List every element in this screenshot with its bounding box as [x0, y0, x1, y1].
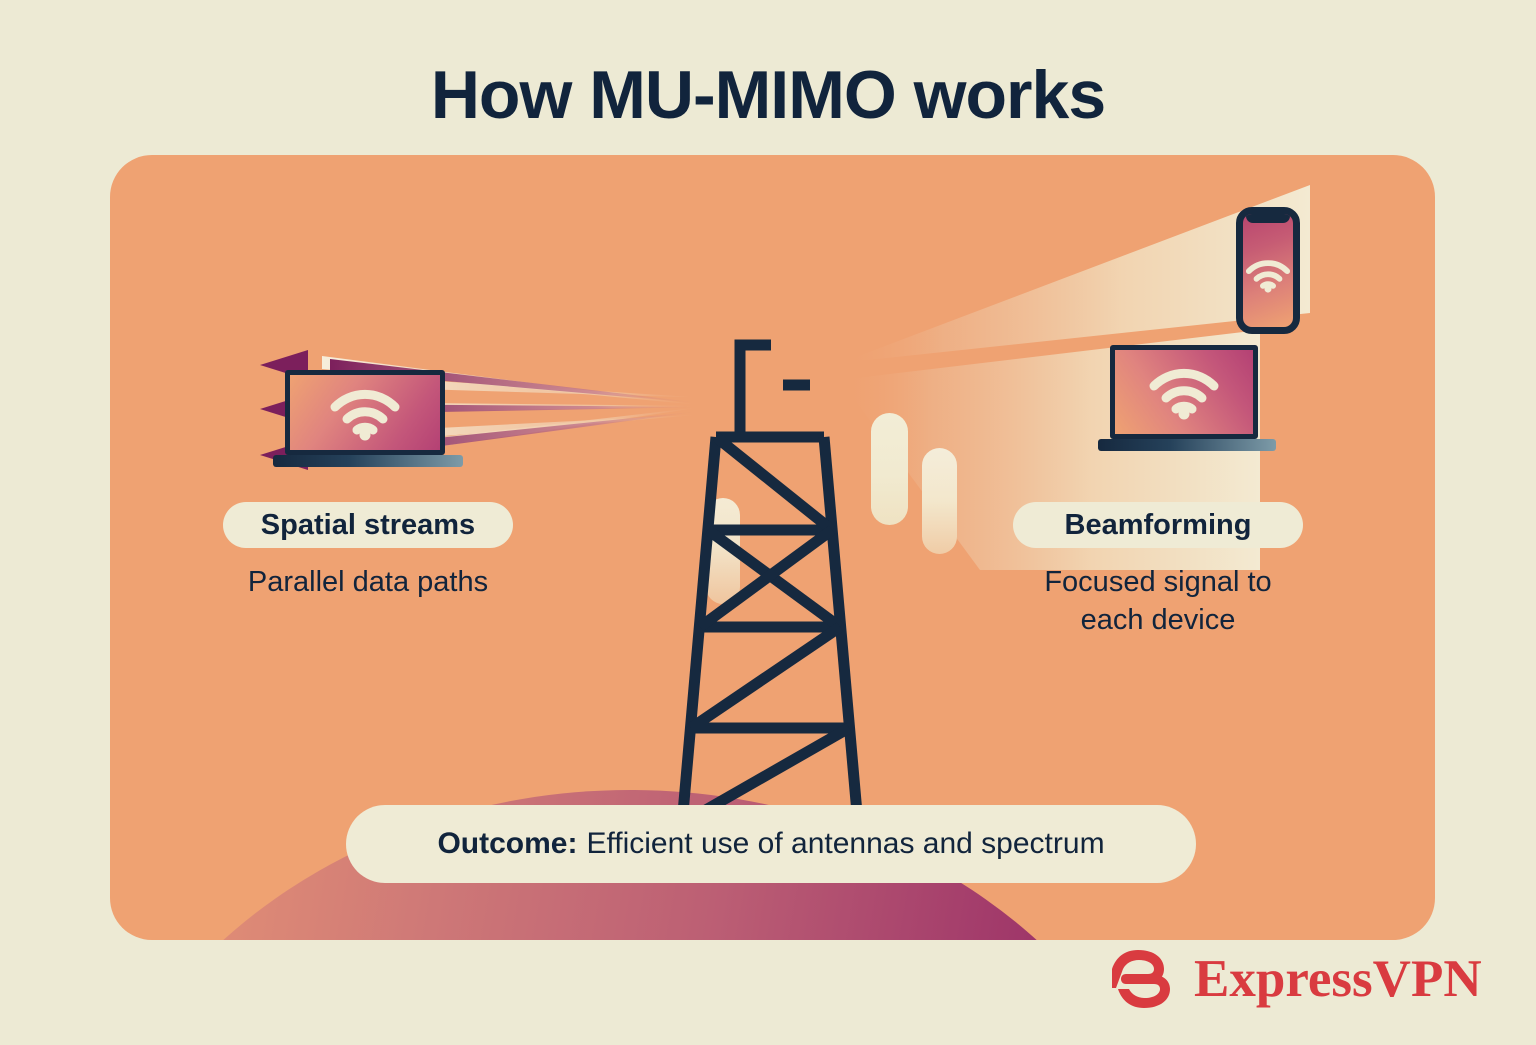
- phone-right: [1236, 207, 1300, 334]
- label-pill-spatial-streams: Spatial streams: [223, 502, 513, 548]
- wifi-icon: [329, 385, 401, 441]
- caption-beamforming-line1: Focused signal to: [1003, 563, 1313, 601]
- expressvpn-e-logo-icon: [1112, 948, 1176, 1010]
- laptop-screen: [1110, 345, 1258, 439]
- expressvpn-wordmark: ExpressVPN: [1194, 949, 1482, 1009]
- laptop-base: [273, 455, 463, 467]
- outcome-banner: Outcome: Efficient use of antennas and s…: [346, 805, 1196, 883]
- phone-notch: [1246, 214, 1290, 223]
- outcome-label: Outcome:: [437, 827, 577, 861]
- cell-tower-icon: [640, 245, 900, 875]
- page-title: How MU-MIMO works: [0, 56, 1536, 134]
- label-pill-beamforming: Beamforming: [1013, 502, 1303, 548]
- antenna-icon: [922, 448, 957, 554]
- wifi-icon: [1148, 364, 1220, 420]
- caption-spatial-streams: Parallel data paths: [203, 563, 533, 601]
- outcome-text: Efficient use of antennas and spectrum: [586, 827, 1104, 861]
- expressvpn-logo: ExpressVPN: [1112, 948, 1482, 1010]
- laptop-base: [1098, 439, 1276, 451]
- laptop-left: [285, 370, 465, 465]
- caption-beamforming-line2: each device: [1003, 601, 1313, 639]
- diagram-panel: Spatial streams Parallel data paths Beam…: [110, 155, 1435, 940]
- wifi-icon: [1245, 257, 1291, 293]
- laptop-right: [1110, 345, 1275, 450]
- laptop-screen: [285, 370, 445, 455]
